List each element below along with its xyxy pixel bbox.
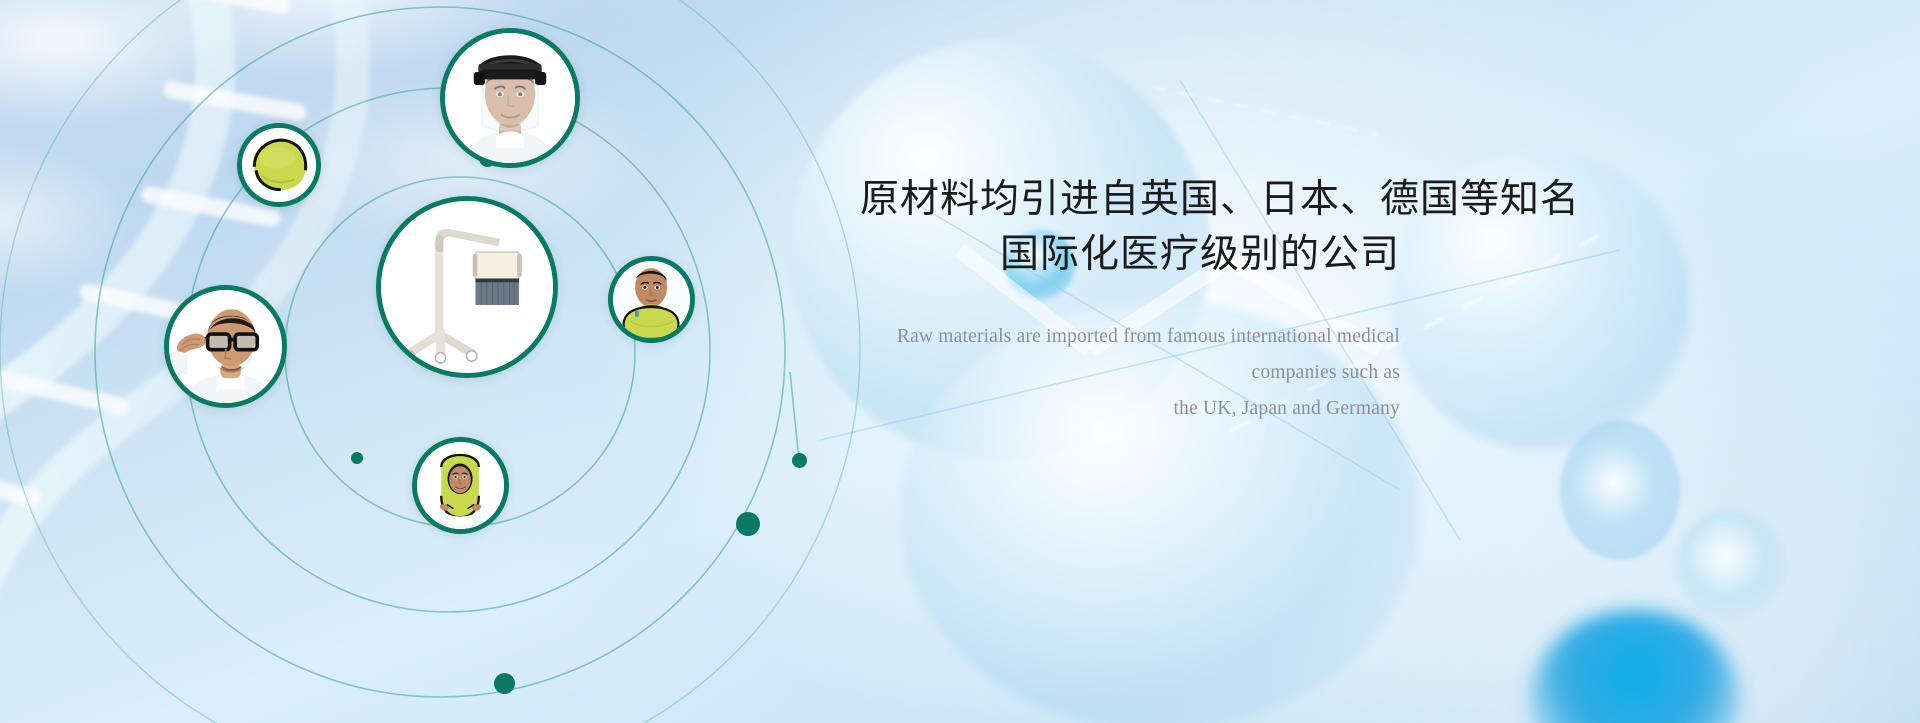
- headline-line-1: 原材料均引进自英国、日本、德国等知名: [860, 172, 1400, 227]
- bubble-lead-cap[interactable]: [237, 123, 321, 207]
- bubble-thyroid-collar[interactable]: [608, 256, 695, 343]
- bubble-radiation-face-shield-headset[interactable]: [440, 28, 580, 168]
- face-shield-headset-illustration: [445, 33, 575, 163]
- subcopy-line-2: the UK, Japan and Germany: [860, 391, 1400, 427]
- accent-dot-4: [736, 512, 760, 536]
- orbit-connector-line: [790, 372, 799, 460]
- subcopy-line-1: Raw materials are imported from famous i…: [860, 319, 1400, 391]
- accent-dot-2: [351, 452, 363, 464]
- bubble-mobile-lead-shield-barrier[interactable]: [376, 196, 558, 378]
- bubble-lead-hood[interactable]: [412, 437, 509, 534]
- lead-cap-illustration: [242, 128, 316, 202]
- mobile-lead-shield-illustration: [381, 201, 553, 373]
- banner-copy: 原材料均引进自英国、日本、德国等知名 国际化医疗级别的公司 Raw materi…: [860, 172, 1400, 427]
- accent-dot-5: [494, 673, 515, 694]
- headline-line-2: 国际化医疗级别的公司: [860, 227, 1400, 282]
- radiation-glasses-illustration: [169, 290, 282, 403]
- hero-banner: 原材料均引进自英国、日本、德国等知名 国际化医疗级别的公司 Raw materi…: [0, 0, 1920, 723]
- subcopy: Raw materials are imported from famous i…: [860, 319, 1400, 427]
- bubble-radiation-glasses[interactable]: [164, 285, 287, 408]
- accent-dot-3: [792, 453, 807, 468]
- lead-hood-illustration: [417, 442, 504, 529]
- thyroid-collar-illustration: [613, 261, 690, 338]
